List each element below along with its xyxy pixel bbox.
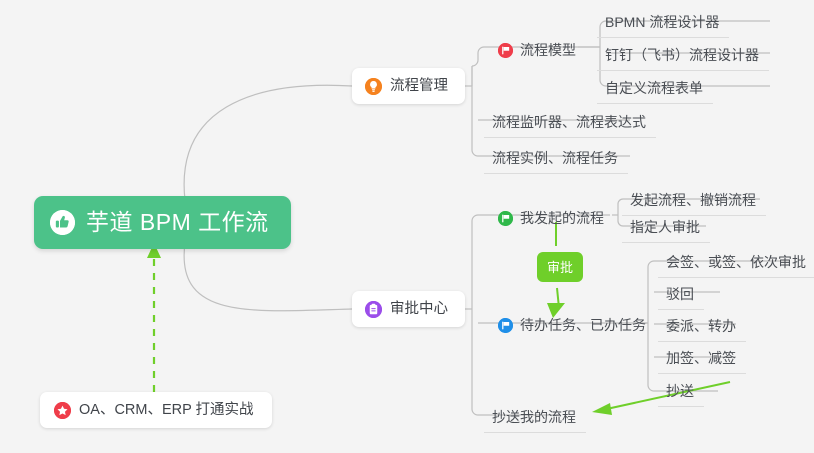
node-assignee-approval[interactable]: 指定人审批: [622, 215, 710, 243]
node-label: 会签、或签、依次审批: [666, 254, 806, 272]
branch-process-management[interactable]: 流程管理: [352, 68, 465, 104]
node-reject[interactable]: 驳回: [658, 282, 704, 310]
node-label: 抄送我的流程: [492, 409, 576, 427]
link-root-to-approval-center: [184, 243, 352, 311]
node-start-cancel-process[interactable]: 发起流程、撤销流程: [622, 188, 766, 216]
node-label: 我发起的流程: [520, 210, 604, 228]
lightbulb-icon: [365, 78, 382, 95]
flag-icon: [498, 211, 513, 226]
node-label: BPMN 流程设计器: [605, 14, 719, 32]
node-label: 流程模型: [520, 42, 576, 60]
footer-node-integration[interactable]: OA、CRM、ERP 打通实战: [40, 392, 272, 428]
node-cc-to-me-processes[interactable]: 抄送我的流程: [484, 405, 586, 433]
node-label: 抄送: [666, 383, 694, 401]
root-label: 芋道 BPM 工作流: [86, 208, 269, 237]
mindmap-canvas: 芋道 BPM 工作流 流程管理 流程模型 BPMN 流程设计器 钉钉（飞书）流程: [0, 0, 814, 453]
node-process-listener[interactable]: 流程监听器、流程表达式: [484, 110, 656, 138]
star-icon: [54, 402, 71, 419]
clipboard-icon: [365, 301, 382, 318]
node-process-instance[interactable]: 流程实例、流程任务: [484, 146, 628, 174]
flag-icon: [498, 318, 513, 333]
node-process-model[interactable]: 流程模型: [490, 38, 586, 65]
branch-label: 审批中心: [390, 300, 448, 318]
node-label: 发起流程、撤销流程: [630, 192, 756, 210]
node-label: 流程实例、流程任务: [492, 150, 618, 168]
node-label: 自定义流程表单: [605, 80, 703, 98]
node-label: 驳回: [666, 286, 694, 304]
root-node[interactable]: 芋道 BPM 工作流: [34, 196, 291, 249]
node-add-remove-sign[interactable]: 加签、减签: [658, 346, 746, 374]
node-todo-done-tasks[interactable]: 待办任务、已办任务: [490, 313, 656, 340]
node-custom-form[interactable]: 自定义流程表单: [597, 76, 713, 104]
link-root-to-process-mgmt: [184, 85, 352, 200]
cc-arrow-head: [592, 403, 612, 415]
approval-flow-badge: 审批: [537, 252, 583, 282]
node-label: 加签、减签: [666, 350, 736, 368]
node-label: 待办任务、已办任务: [520, 317, 646, 335]
node-label: 指定人审批: [630, 219, 700, 237]
node-dingtalk-designer[interactable]: 钉钉（飞书）流程设计器: [597, 43, 769, 71]
node-countersign[interactable]: 会签、或签、依次审批: [658, 250, 814, 278]
node-my-started-processes[interactable]: 我发起的流程: [490, 206, 614, 233]
flag-icon: [498, 43, 513, 58]
thumbs-up-icon: [50, 210, 75, 235]
node-label: 流程监听器、流程表达式: [492, 114, 646, 132]
branch-label: 流程管理: [390, 77, 448, 95]
node-cc[interactable]: 抄送: [658, 379, 704, 407]
badge-label: 审批: [547, 260, 573, 275]
node-bpmn-designer[interactable]: BPMN 流程设计器: [597, 10, 729, 38]
integration-flow-arrow: [147, 243, 161, 392]
node-label: 委派、转办: [666, 318, 736, 336]
node-label: 钉钉（飞书）流程设计器: [605, 47, 759, 65]
node-delegate-transfer[interactable]: 委派、转办: [658, 314, 746, 342]
footer-node-label: OA、CRM、ERP 打通实战: [79, 401, 254, 419]
branch-approval-center[interactable]: 审批中心: [352, 291, 465, 327]
